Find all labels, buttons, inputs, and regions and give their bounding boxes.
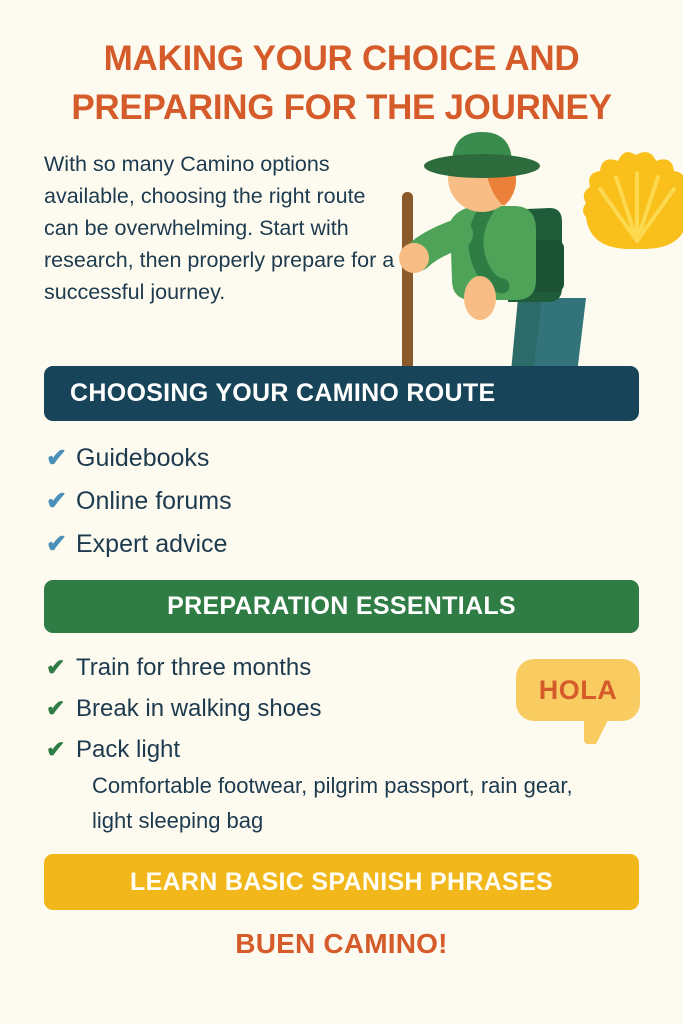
hiker-and-shell-svg	[390, 130, 683, 382]
cta-banner-learn-spanish[interactable]: LEARN BASIC SPANISH PHRASES	[44, 854, 639, 910]
check-icon: ✔	[46, 481, 76, 522]
list-item[interactable]: ✔ Train for three months	[46, 648, 321, 687]
list-item[interactable]: ✔ Pack light	[46, 730, 321, 769]
packing-subnote: Comfortable footwear, pilgrim passport, …	[92, 768, 612, 838]
scallop-shell-icon	[583, 152, 683, 249]
hola-speech-bubble: HOLA	[516, 659, 640, 753]
list-item-label: Guidebooks	[76, 438, 209, 479]
page-title-line-2: PREPARING FOR THE JOURNEY	[0, 83, 683, 132]
list-item[interactable]: ✔ Expert advice	[46, 524, 232, 565]
list-item-label: Break in walking shoes	[76, 689, 321, 728]
check-icon: ✔	[46, 730, 76, 769]
illustration-group	[390, 130, 683, 382]
intro-paragraph: With so many Camino options available, c…	[44, 148, 396, 308]
list-item-label: Pack light	[76, 730, 180, 769]
hiker-hand	[399, 243, 429, 273]
list-item-label: Online forums	[76, 481, 232, 522]
check-icon: ✔	[46, 438, 76, 479]
section-banner-choosing-route[interactable]: CHOOSING YOUR CAMINO ROUTE	[44, 366, 639, 421]
hiker-hand-lower	[464, 276, 496, 320]
list-item[interactable]: ✔ Guidebooks	[46, 438, 232, 479]
check-icon: ✔	[46, 524, 76, 565]
checklist-choosing-route: ✔ Guidebooks ✔ Online forums ✔ Expert ad…	[46, 438, 232, 567]
speech-bubble-text: HOLA	[539, 675, 618, 706]
page-title: MAKING YOUR CHOICE AND PREPARING FOR THE…	[0, 34, 683, 132]
list-item[interactable]: ✔ Break in walking shoes	[46, 689, 321, 728]
check-icon: ✔	[46, 648, 76, 687]
checklist-preparation-essentials: ✔ Train for three months ✔ Break in walk…	[46, 648, 321, 771]
walking-staff-icon	[402, 192, 413, 382]
list-item-label: Expert advice	[76, 524, 227, 565]
hiker-hat-brim	[424, 154, 540, 178]
list-item-label: Train for three months	[76, 648, 311, 687]
check-icon: ✔	[46, 689, 76, 728]
list-item[interactable]: ✔ Online forums	[46, 481, 232, 522]
footer-text: BUEN CAMINO!	[0, 928, 683, 960]
infographic-page: MAKING YOUR CHOICE AND PREPARING FOR THE…	[0, 0, 683, 1024]
page-title-line-1: MAKING YOUR CHOICE AND	[0, 34, 683, 83]
speech-bubble-body: HOLA	[516, 659, 640, 721]
section-banner-preparation-essentials[interactable]: PREPARATION ESSENTIALS	[44, 580, 639, 633]
